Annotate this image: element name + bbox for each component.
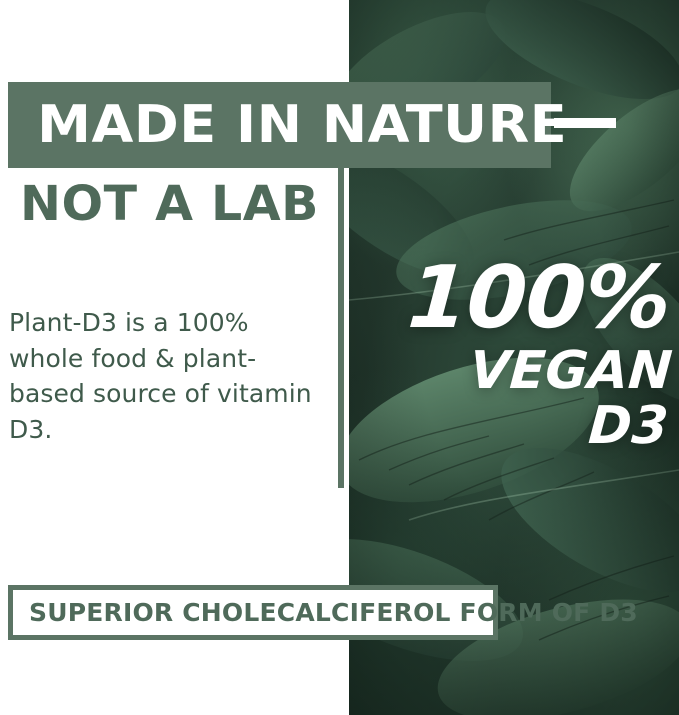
headline-line1: MADE IN NATURE	[8, 99, 567, 151]
vegan-claim-block: 100% VEGAN D3	[390, 258, 670, 453]
vegan-d3-text: VEGAN D3	[386, 344, 674, 453]
ad-graphic: MADE IN NATURE NOT A LAB Plant-D3 is a 1…	[0, 0, 679, 715]
headline-bar: MADE IN NATURE	[8, 82, 551, 168]
white-dash-accent	[554, 118, 616, 128]
body-paragraph: Plant-D3 is a 100% whole food & plant-ba…	[9, 305, 329, 447]
bottom-banner: SUPERIOR CHOLECALCIFEROL FORM OF D3	[8, 585, 498, 640]
headline-line2: NOT A LAB	[20, 180, 319, 228]
percent-text: 100%	[387, 258, 673, 340]
bottom-banner-text: SUPERIOR CHOLECALCIFEROL FORM OF D3	[13, 598, 638, 627]
